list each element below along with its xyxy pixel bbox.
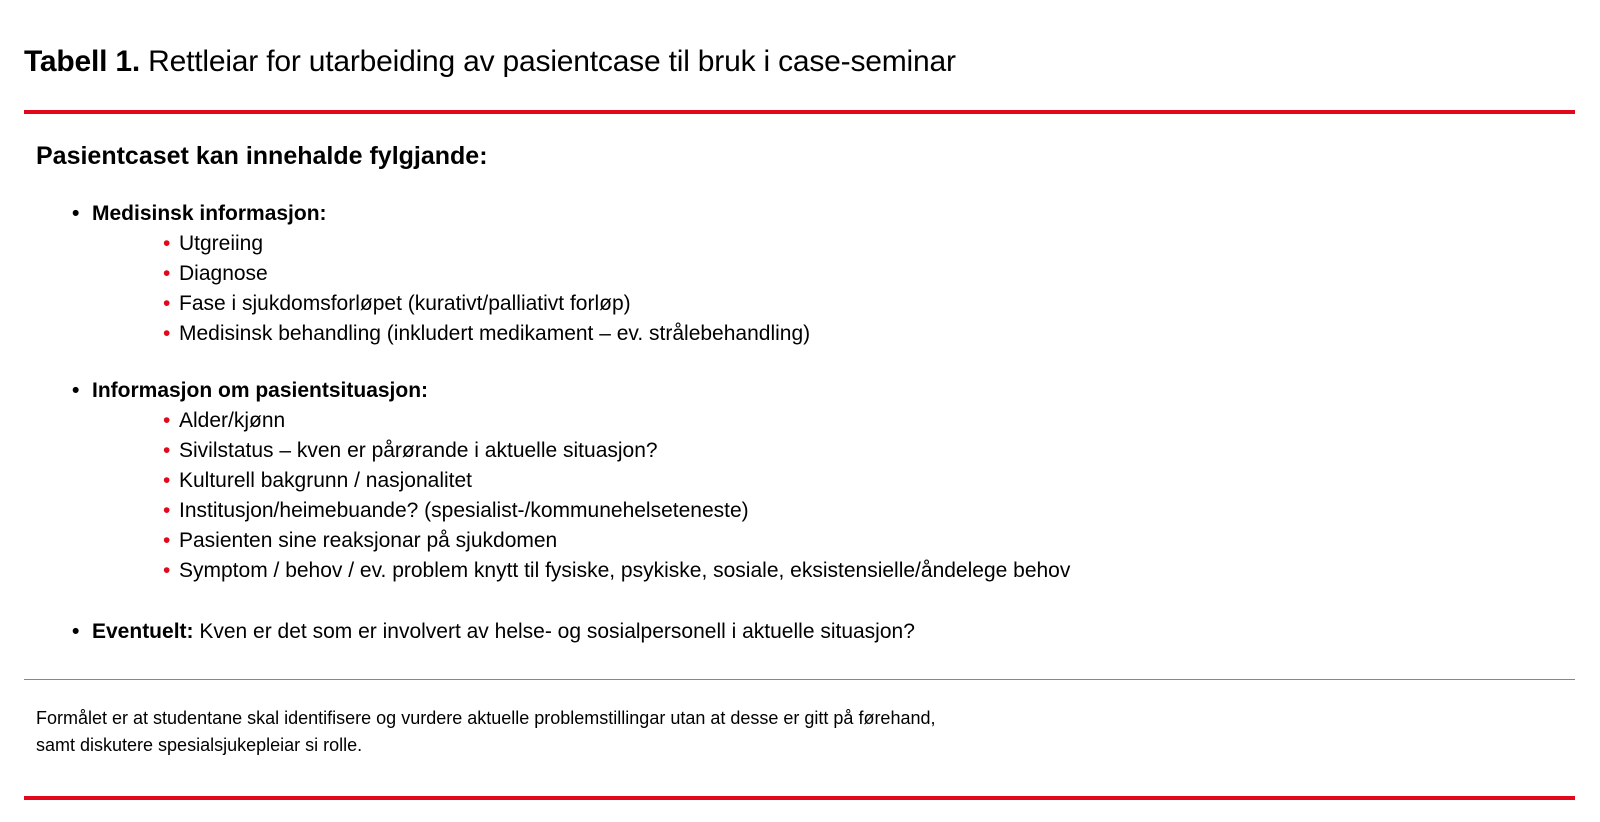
bullet-icon: •	[163, 319, 170, 349]
list-item: • Medisinsk behandling (inkludert medika…	[163, 319, 1600, 349]
list-item: • Institusjon/heimebuande? (spesialist-/…	[163, 496, 1600, 526]
bullet-icon: •	[163, 229, 170, 259]
group-heading-label: Medisinsk informasjon:	[92, 202, 327, 225]
list-item: • Diagnose	[163, 259, 1600, 289]
group-medisinsk-informasjon: • Medisinsk informasjon: • Utgreiing • D…	[0, 198, 1600, 349]
list-item-label: Kulturell bakgrunn / nasjonalitet	[179, 469, 472, 492]
bullet-icon: •	[163, 259, 170, 289]
bullet-icon: •	[163, 436, 170, 466]
divider-red-top	[24, 110, 1575, 114]
bullet-icon: •	[163, 406, 170, 436]
eventuelt-text: Kven er det som er involvert av helse- o…	[194, 620, 915, 643]
sub-item-list: • Alder/kjønn • Sivilstatus – kven er på…	[0, 406, 1600, 586]
group-eventuelt: • Eventuelt: Kven er det som er involver…	[0, 616, 1600, 647]
footnote: Formålet er at studentane skal identifis…	[36, 705, 936, 759]
list-item-label: Fase i sjukdomsforløpet (kurativt/pallia…	[179, 292, 631, 315]
bullet-icon: •	[163, 496, 170, 526]
bullet-icon: •	[163, 466, 170, 496]
divider-gray	[24, 679, 1575, 680]
table-caption: Rettleiar for utarbeiding av pasientcase…	[148, 45, 956, 78]
bullet-icon: •	[163, 526, 170, 556]
list-item: • Kulturell bakgrunn / nasjonalitet	[163, 466, 1600, 496]
list-item: • Alder/kjønn	[163, 406, 1600, 436]
list-item-label: Symptom / behov / ev. problem knytt til …	[179, 559, 1070, 582]
group-heading: • Informasjon om pasientsituasjon:	[72, 375, 1600, 406]
table-figure: Tabell 1. Rettleiar for utarbeiding av p…	[0, 0, 1600, 822]
eventuelt-line: • Eventuelt: Kven er det som er involver…	[72, 616, 1600, 647]
list-item-label: Diagnose	[179, 262, 268, 285]
group-informasjon-om-pasientsituasjon: • Informasjon om pasientsituasjon: • Ald…	[0, 375, 1600, 586]
list-item: • Sivilstatus – kven er pårørande i aktu…	[163, 436, 1600, 466]
footnote-line-1: Formålet er at studentane skal identifis…	[36, 705, 936, 732]
divider-red-bottom	[24, 796, 1575, 800]
list-item-label: Medisinsk behandling (inkludert medikame…	[179, 322, 810, 345]
list-item-label: Alder/kjønn	[179, 409, 285, 432]
list-item-label: Institusjon/heimebuande? (spesialist-/ko…	[179, 499, 749, 522]
group-heading: • Medisinsk informasjon:	[72, 198, 1600, 229]
bullet-icon: •	[163, 289, 170, 319]
eventuelt-label: Eventuelt:	[92, 620, 194, 643]
list-item: • Utgreiing	[163, 229, 1600, 259]
sub-item-list: • Utgreiing • Diagnose • Fase i sjukdoms…	[0, 229, 1600, 349]
page-title: Tabell 1. Rettleiar for utarbeiding av p…	[24, 42, 956, 82]
list-item: • Fase i sjukdomsforløpet (kurativt/pall…	[163, 289, 1600, 319]
table-body: Pasientcaset kan innehalde fylgjande: • …	[0, 140, 1600, 647]
bullet-icon: •	[72, 375, 79, 406]
list-item: • Pasienten sine reaksjonar på sjukdomen	[163, 526, 1600, 556]
bullet-icon: •	[72, 198, 79, 229]
bullet-icon: •	[72, 616, 79, 647]
bullet-icon: •	[163, 556, 170, 586]
list-item-label: Pasienten sine reaksjonar på sjukdomen	[179, 529, 557, 552]
table-number: Tabell 1.	[24, 45, 140, 78]
lead-heading: Pasientcaset kan innehalde fylgjande:	[36, 140, 1600, 172]
footnote-line-2: samt diskutere spesialsjukepleiar si rol…	[36, 732, 936, 759]
list-item-label: Utgreiing	[179, 232, 263, 255]
list-item-label: Sivilstatus – kven er pårørande i aktuel…	[179, 439, 658, 462]
list-item: • Symptom / behov / ev. problem knytt ti…	[163, 556, 1600, 586]
group-heading-label: Informasjon om pasientsituasjon:	[92, 379, 428, 402]
